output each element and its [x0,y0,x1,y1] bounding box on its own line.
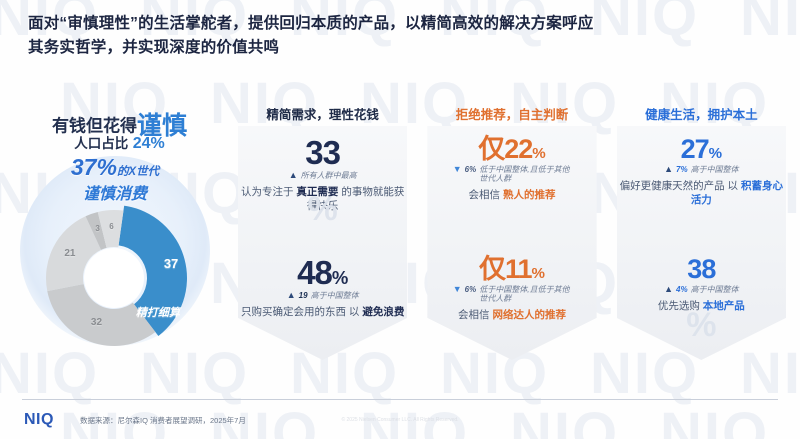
insight-column-2: 拒绝推荐，自主判断仅22%▼6%低于中国整体,且低于其他世代人群会相信 熟人的推… [417,104,606,376]
headline-line-2: 其务实哲学，并实现深度的价值共鸣 [28,36,776,60]
arrow-up-icon: ▲ [287,291,296,300]
column-blocks: 仅22%▼6%低于中国整体,且低于其他世代人群会相信 熟人的推荐仅11%▼6%低… [427,130,596,376]
stat-number: 33 [305,134,340,171]
headline-line-1: 面对“审慎理性”的生活掌舵者，提供回归本质的产品，以精简高效的解决方案呼应 [28,12,776,36]
stat-block[interactable]: 仅11%▼6%低于中国整体,且低于其他世代人群会相信 网络达人的推荐 [427,256,596,323]
stat-delta-value: 6% [465,285,477,294]
stat-desc-bold: 本地产品 [703,300,745,312]
stat-delta-value: 6% [465,165,477,174]
stat-value: 27% [617,136,786,163]
stat-delta: ▲所有人群中最高 [238,171,407,180]
column-header-3: 健康生活，拥护本土 [613,104,790,126]
stat-desc-pre: 优先选购 [658,300,703,312]
stat-desc-pre: 只购买确定会用的东西 以 [241,306,362,318]
stat-delta: ▼6%低于中国整体,且低于其他世代人群 [427,285,596,303]
arrow-down-icon: ▼ [453,285,462,294]
donut-chart[interactable]: 37322136 精打细算 [18,200,210,360]
stat-desc-bold: 避免浪费 [362,306,404,318]
donut-svg [18,200,210,360]
footer-divider [22,399,778,400]
stat-unit: % [332,267,348,288]
stat-block[interactable]: 48%▲19高于中国整体只购买确定会用的东西 以 避免浪费 [238,256,407,319]
stat-description: 会相信 熟人的推荐 [427,188,596,202]
stat-desc-pre: 会相信 [458,309,492,321]
persona-highlight-suffix: 的X世代 [117,166,159,178]
insight-column-1: 精简需求，理性花钱%33▲所有人群中最高认为专注于 真正需要 的事物就能获得快乐… [228,104,417,376]
stat-block[interactable]: 仅22%▼6%低于中国整体,且低于其他世代人群会相信 熟人的推荐 [427,136,596,203]
stat-desc-pre: 会相信 [469,189,503,201]
stat-delta: ▲7%高于中国整体 [617,165,786,174]
arrow-up-icon: ▲ [664,165,673,174]
persona-highlight-pct: 37% [71,154,117,180]
stat-delta-value: 4% [676,285,688,294]
stat-description: 偏好更健康天然的产品 以 积蓄身心活力 [617,179,786,207]
stat-desc-bold: 真正需要 [296,186,338,198]
slide-footer: NIQ 数据来源：尼尔森IQ 消费者展望调研，2025年7月 © 2025 Ni… [0,393,800,439]
stat-block[interactable]: 33▲所有人群中最高认为专注于 真正需要 的事物就能获得快乐 [238,136,407,214]
stat-delta-text: 高于中国整体 [691,165,739,174]
stat-desc-bold: 熟人的推荐 [503,189,556,201]
stat-number: 38 [687,254,715,284]
stat-unit: % [532,265,545,282]
arrow-down-icon: ▼ [453,165,462,174]
stat-unit: % [532,145,545,162]
persona-highlight-line2: 谨慎消费 [10,180,220,204]
column-header-1: 精简需求，理性花钱 [234,104,411,126]
stat-delta-text: 低于中国整体,且低于其他世代人群 [479,285,571,303]
stat-block[interactable]: 27%▲7%高于中国整体偏好更健康天然的产品 以 积蓄身心活力 [617,136,786,208]
arrow-up-icon: ▲ [664,285,673,294]
persona-highlight-line1: 37%的X世代 [10,154,220,181]
persona-share-value: 24% [133,135,165,152]
footer-copyright: © 2025 Nielsen Consumer LLC. All Rights … [0,417,800,423]
stat-desc-pre: 认为专注于 [241,186,296,198]
stat-delta-text: 低于中国整体,且低于其他世代人群 [479,165,571,183]
stat-description: 只购买确定会用的东西 以 避免浪费 [238,305,407,319]
persona-share-label: 人口占比 [74,136,128,151]
stat-value: 仅22% [427,136,596,163]
stat-description: 优先选购 本地产品 [617,299,786,313]
stat-description: 认为专注于 真正需要 的事物就能获得快乐 [238,185,407,213]
stat-value: 仅11% [427,256,596,283]
column-blocks: %33▲所有人群中最高认为专注于 真正需要 的事物就能获得快乐48%▲19高于中… [238,130,407,376]
stat-number: 48 [297,254,332,291]
stat-delta-value: 19 [299,291,308,300]
stat-value: 38 [617,256,786,283]
persona-donut-panel: 有钱但花得谨慎 人口占比 24% 37%的X世代 谨慎消费 37322136 精… [0,100,228,360]
stat-desc-bold: 网络达人的推荐 [492,309,566,321]
donut-hole [84,248,144,308]
stat-delta: ▲19高于中国整体 [238,291,407,300]
arrow-up-icon: ▲ [289,171,298,180]
stat-delta: ▼6%低于中国整体,且低于其他世代人群 [427,165,596,183]
stat-number: 仅11 [479,254,532,284]
stat-description: 会相信 网络达人的推荐 [427,308,596,322]
insight-column-3: 健康生活，拥护本土27%▲7%高于中国整体偏好更健康天然的产品 以 积蓄身心活力… [607,104,796,376]
column-blocks: 27%▲7%高于中国整体偏好更健康天然的产品 以 积蓄身心活力%38▲4%高于中… [617,130,786,376]
stat-number: 27 [681,134,709,164]
stat-delta: ▲4%高于中国整体 [617,285,786,294]
stat-delta-text: 所有人群中最高 [301,171,357,180]
slide-headline: 面对“审慎理性”的生活掌舵者，提供回归本质的产品，以精简高效的解决方案呼应 其务… [28,12,776,60]
column-header-2: 拒绝推荐，自主判断 [423,104,600,126]
persona-population-share: 人口占比 24% [22,132,217,153]
stat-block[interactable]: 38▲4%高于中国整体优先选购 本地产品 [617,256,786,313]
stat-delta-value: 7% [676,165,688,174]
stat-delta-text: 高于中国整体 [691,285,739,294]
insight-columns: 精简需求，理性花钱%33▲所有人群中最高认为专注于 真正需要 的事物就能获得快乐… [228,104,796,376]
stat-value: 33 [238,136,407,169]
stat-delta-text: 高于中国整体 [311,291,359,300]
stat-value: 48% [238,256,407,289]
stat-desc-pre: 偏好更健康天然的产品 以 [620,180,741,192]
stat-unit: % [709,145,722,162]
slide-root: NIQNIQNIQNIQNIQNIQNIQNIQNIQNIQNIQNIQNIQN… [0,0,800,439]
stat-number: 仅22 [478,134,532,164]
